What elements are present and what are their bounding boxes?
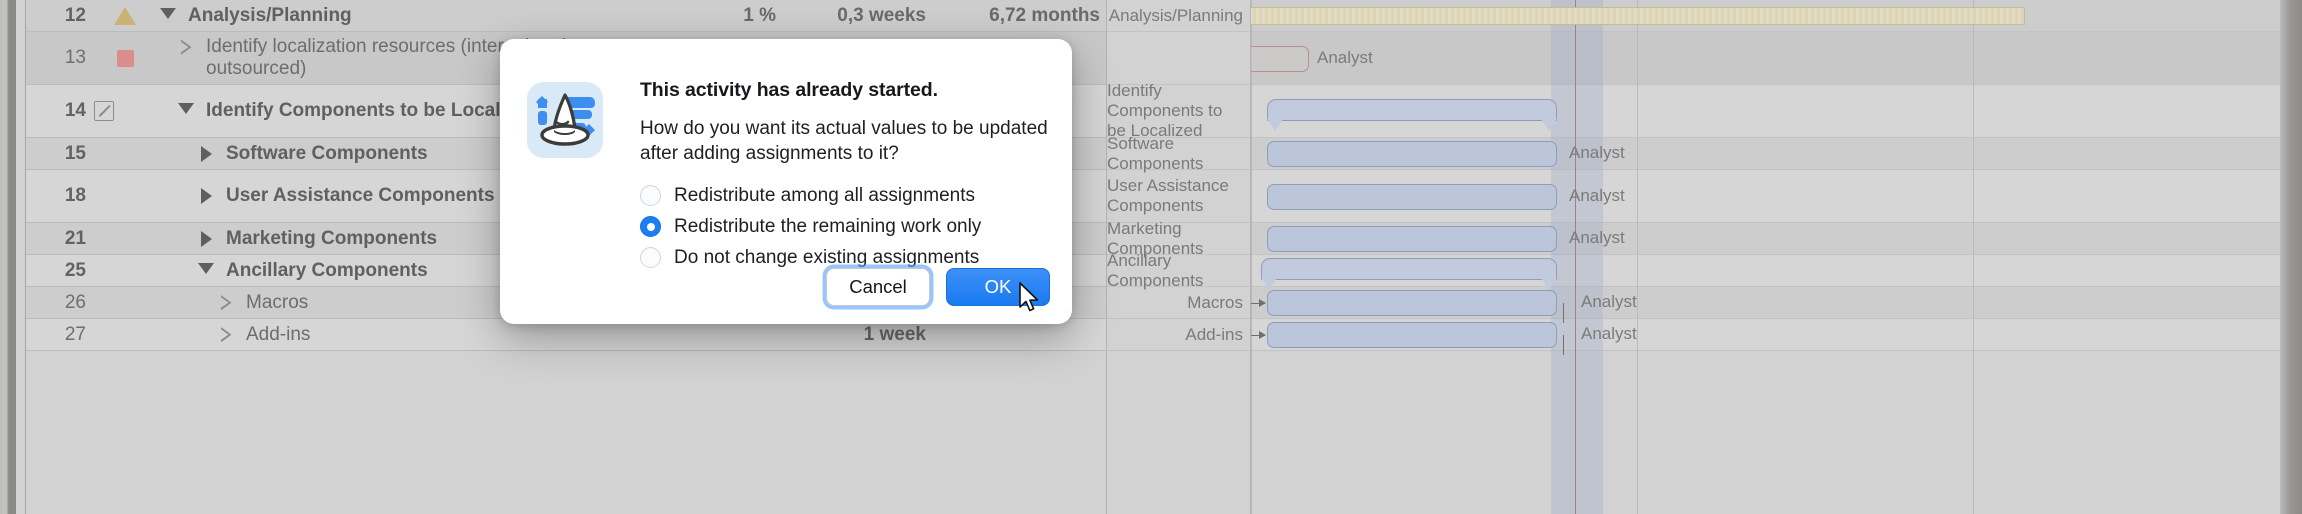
task-name-cell[interactable]: Add-ins bbox=[156, 324, 626, 346]
gantt-row-labels: Analysis/PlanningIdentify Components to … bbox=[1106, 0, 1251, 514]
gantt-dependency-line bbox=[1563, 303, 1564, 323]
radio-unselected-icon[interactable] bbox=[640, 185, 661, 206]
task-name-label: Macros bbox=[238, 292, 308, 314]
duration-cell[interactable]: 0,3 weeks bbox=[776, 5, 930, 27]
gantt-row-label: Add-ins bbox=[1107, 319, 1251, 351]
window-right-edge bbox=[2280, 0, 2302, 514]
chevron-down-icon[interactable] bbox=[174, 100, 198, 114]
gantt-row-label: Macros bbox=[1107, 287, 1251, 319]
row-id: 15 bbox=[26, 143, 94, 165]
gantt-task-bar[interactable] bbox=[1267, 322, 1557, 348]
warning-triangle-icon bbox=[94, 7, 156, 25]
already-started-dialog[interactable]: This activity has already started. How d… bbox=[500, 39, 1072, 324]
radio-option-label: Redistribute the remaining work only bbox=[674, 216, 981, 238]
gantt-open-bar[interactable] bbox=[1250, 46, 1309, 72]
dialog-button-row: Cancel OK bbox=[826, 268, 1050, 306]
task-name-label: Analysis/Planning bbox=[180, 5, 352, 27]
ok-button[interactable]: OK bbox=[946, 268, 1050, 306]
today-band bbox=[1551, 0, 1603, 514]
chevron-right-icon[interactable] bbox=[194, 228, 218, 247]
gantt-row-label: Software Components bbox=[1107, 138, 1251, 170]
gantt-gridline bbox=[1637, 0, 1638, 514]
gantt-gridline bbox=[1973, 0, 1974, 514]
chevron-down-icon[interactable] bbox=[194, 260, 218, 274]
cancel-button[interactable]: Cancel bbox=[826, 268, 930, 306]
gantt-row-label: Ancillary Components bbox=[1107, 255, 1251, 287]
chevron-down-icon[interactable] bbox=[156, 5, 180, 19]
gantt-task-bar[interactable] bbox=[1267, 141, 1557, 167]
row-id: 14 bbox=[26, 100, 94, 122]
gantt-phase-bar[interactable] bbox=[1250, 7, 2025, 25]
gantt-summary-bar[interactable] bbox=[1261, 258, 1557, 280]
gantt-resource-label: Analyst bbox=[1581, 324, 1637, 344]
radio-option-label: Redistribute among all assignments bbox=[674, 185, 975, 207]
dialog-message: How do you want its actual values to be … bbox=[640, 116, 1050, 167]
task-name-label: User Assistance Components bbox=[218, 185, 495, 207]
gantt-dependency-line bbox=[1563, 335, 1564, 355]
radio-option-1[interactable]: Redistribute among all assignments bbox=[640, 185, 1052, 207]
row-id: 21 bbox=[26, 228, 94, 250]
window-left-edge bbox=[0, 0, 16, 514]
gantt-timeline[interactable]: AnalystAnalystAnalystAnalystAnalystAnaly… bbox=[1250, 0, 2280, 514]
task-name-cell[interactable]: Analysis/Planning bbox=[156, 5, 626, 27]
radio-option-3[interactable]: Do not change existing assignments bbox=[640, 247, 1052, 269]
task-name-label: Identify Components to be Localized bbox=[198, 100, 537, 122]
row-id: 25 bbox=[26, 260, 94, 282]
gantt-gridline bbox=[1251, 0, 1252, 514]
row-id: 27 bbox=[26, 324, 94, 346]
radio-selected-icon[interactable] bbox=[640, 216, 661, 237]
gantt-resource-label: Analyst bbox=[1317, 48, 1373, 68]
chevron-right-outline-icon[interactable] bbox=[174, 36, 198, 55]
percent-cell[interactable]: 1 % bbox=[626, 5, 776, 27]
task-name-label: Ancillary Components bbox=[218, 260, 428, 282]
gantt-resource-label: Analyst bbox=[1569, 228, 1625, 248]
chevron-right-outline-icon[interactable] bbox=[214, 292, 238, 311]
row-id: 18 bbox=[26, 185, 94, 207]
gantt-task-bar[interactable] bbox=[1267, 290, 1557, 316]
gantt-resource-label: Analyst bbox=[1581, 292, 1637, 312]
radio-option-2[interactable]: Redistribute the remaining work only bbox=[640, 216, 1052, 238]
gantt-task-bar[interactable] bbox=[1267, 226, 1557, 252]
radio-unselected-icon[interactable] bbox=[640, 247, 661, 268]
row-id: 12 bbox=[26, 5, 94, 27]
gantt-resource-label: Analyst bbox=[1569, 143, 1625, 163]
duration-cell[interactable]: 1 week bbox=[776, 324, 930, 346]
row-id: 26 bbox=[26, 292, 94, 314]
total-duration-cell[interactable]: 6,72 months bbox=[930, 5, 1106, 27]
note-icon bbox=[94, 101, 156, 121]
gantt-row-label: Identify Components to be Localized bbox=[1107, 85, 1251, 138]
gantt-summary-bar[interactable] bbox=[1267, 99, 1557, 121]
chevron-right-icon[interactable] bbox=[194, 185, 218, 204]
gantt-row-label bbox=[1107, 32, 1251, 85]
wizard-hat-icon bbox=[527, 82, 603, 158]
dialog-title: This activity has already started. bbox=[640, 79, 1052, 102]
task-name-label: Software Components bbox=[218, 143, 428, 165]
gantt-dependency-arrow bbox=[1250, 335, 1265, 336]
radio-option-label: Do not change existing assignments bbox=[674, 247, 979, 269]
row-id: 13 bbox=[26, 47, 94, 69]
flag-square-icon bbox=[94, 50, 156, 67]
chevron-right-icon[interactable] bbox=[194, 143, 218, 162]
gantt-row-label: Analysis/Planning bbox=[1107, 0, 1251, 32]
chevron-right-outline-icon[interactable] bbox=[214, 324, 238, 343]
gantt-dependency-arrow bbox=[1250, 303, 1265, 304]
application-window: 12Analysis/Planning1 %0,3 weeks6,72 mont… bbox=[0, 0, 2302, 514]
dialog-body: This activity has already started. How d… bbox=[640, 67, 1052, 278]
gantt-row-background bbox=[1251, 32, 2280, 85]
table-row[interactable]: 12Analysis/Planning1 %0,3 weeks6,72 mont… bbox=[26, 0, 1106, 32]
today-line bbox=[1575, 0, 1576, 514]
gantt-resource-label: Analyst bbox=[1569, 186, 1625, 206]
task-name-label: Marketing Components bbox=[218, 228, 437, 250]
gantt-task-bar[interactable] bbox=[1267, 184, 1557, 210]
gantt-row-label: User Assistance Components bbox=[1107, 170, 1251, 223]
task-name-label: Add-ins bbox=[238, 324, 310, 346]
update-mode-radio-group[interactable]: Redistribute among all assignmentsRedist… bbox=[640, 185, 1052, 269]
